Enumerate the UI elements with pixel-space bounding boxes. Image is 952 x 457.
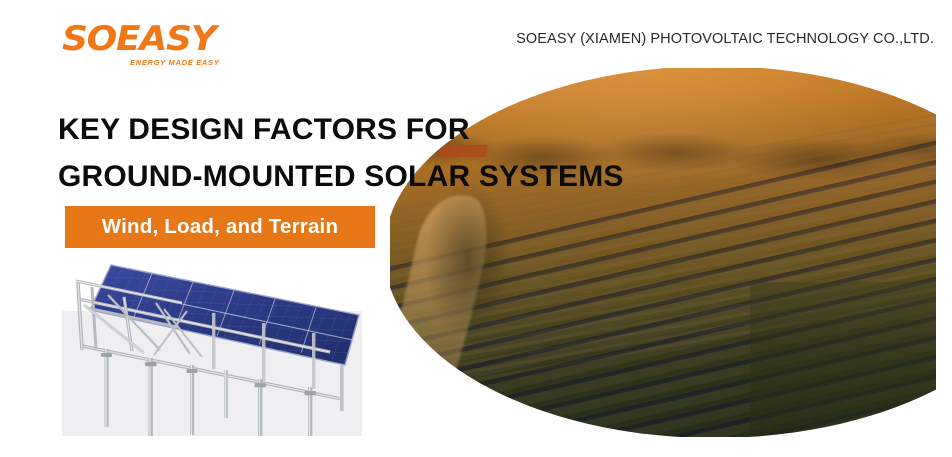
headline-line-1: KEY DESIGN FACTORS FOR xyxy=(58,113,470,146)
driven-piles xyxy=(101,349,344,436)
logo-wordmark: SOEASY xyxy=(62,22,216,56)
render-artwork xyxy=(62,253,384,436)
headline-line-2: GROUND-MOUNTED SOLAR SYSTEMS xyxy=(58,153,624,200)
headline: KEY DESIGN FACTORS FOR GROUND-MOUNTED SO… xyxy=(58,106,624,200)
logo-tagline: ENERGY MADE EASY xyxy=(130,58,219,67)
subtitle-bar: Wind, Load, and Terrain xyxy=(65,206,375,248)
brand-logo[interactable]: SOEASY ENERGY MADE EASY xyxy=(62,22,272,66)
company-name: SOEASY (XIAMEN) PHOTOVOLTAIC TECHNOLOGY … xyxy=(516,31,934,47)
product-render xyxy=(62,253,384,436)
banner-root: SOEASY ENERGY MADE EASY SOEASY (XIAMEN) … xyxy=(0,0,952,457)
subtitle-label: Wind, Load, and Terrain xyxy=(65,206,375,248)
